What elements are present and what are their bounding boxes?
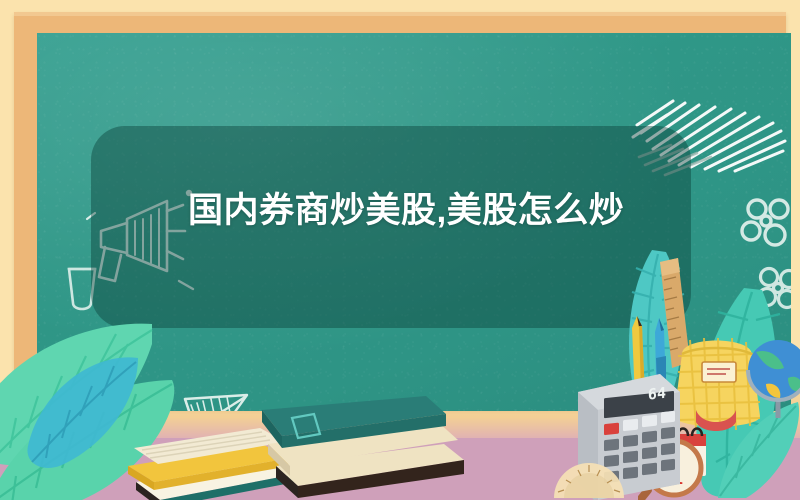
flower-doodle-icon <box>737 193 791 255</box>
globe <box>744 338 800 422</box>
cover-image: 国内券商炒美股,美股怎么炒 <box>0 0 800 500</box>
page-title: 国内券商炒美股,美股怎么炒 <box>188 187 634 234</box>
stacked-books <box>258 392 470 500</box>
protractor <box>552 452 626 500</box>
calculator-display-value: 64 <box>648 384 666 404</box>
